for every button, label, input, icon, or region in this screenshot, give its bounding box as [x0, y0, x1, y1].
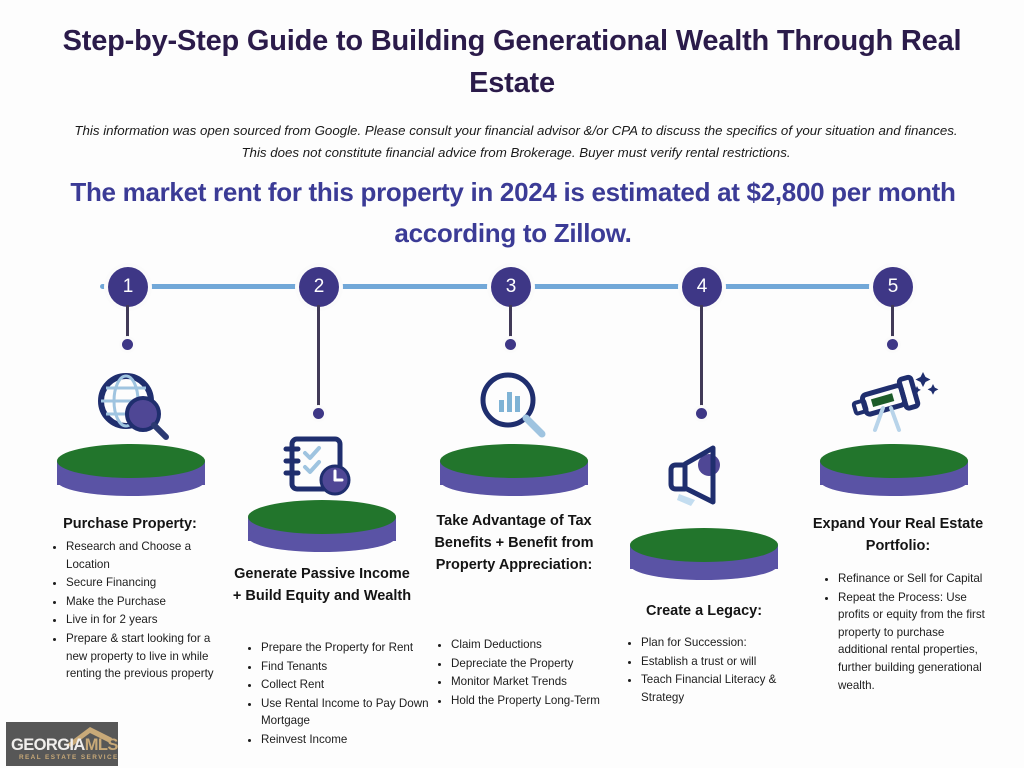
checklist-clock-icon	[278, 430, 374, 506]
list-item: Monitor Market Trends	[451, 673, 621, 691]
timeline-stem-dot-2	[313, 408, 324, 419]
disclaimer-text: This information was open sourced from G…	[66, 120, 966, 164]
georgia-mls-logo[interactable]: GEORGIAMLS REAL ESTATE SERVICES	[6, 722, 118, 766]
timeline-node-3[interactable]: 3	[491, 267, 531, 307]
step-list-4: Plan for Succession: Establish a trust o…	[625, 634, 809, 707]
timeline-node-4[interactable]: 4	[682, 267, 722, 307]
page-title: Step-by-Step Guide to Building Generatio…	[62, 20, 962, 104]
list-item: Depreciate the Property	[451, 655, 621, 673]
list-item: Prepare & start looking for a new proper…	[66, 630, 234, 683]
platform-2	[248, 500, 396, 552]
list-item: Claim Deductions	[451, 636, 621, 654]
timeline-stem-4	[700, 305, 703, 413]
list-item: Secure Financing	[66, 574, 234, 592]
list-item: Live in for 2 years	[66, 611, 234, 629]
platform-3	[440, 444, 588, 496]
step-heading-4: Create a Legacy:	[618, 601, 790, 623]
timeline-stem-2	[317, 305, 320, 413]
list-item: Hold the Property Long-Term	[451, 692, 621, 710]
timeline-stem-dot-4	[696, 408, 707, 419]
list-item: Plan for Succession:	[641, 634, 809, 652]
step-heading-1: Purchase Property:	[22, 514, 238, 536]
list-item: Reinvest Income	[261, 731, 429, 749]
globe-search-icon	[84, 368, 180, 444]
timeline-stem-dot-5	[887, 339, 898, 350]
list-item: Establish a trust or will	[641, 653, 809, 671]
logo-word-georgia: GEORGIA	[11, 736, 85, 754]
platform-5	[820, 444, 968, 496]
logo-word-mls: MLS	[85, 736, 118, 754]
logo-wordmark: GEORGIAMLS	[11, 736, 118, 755]
platform-4	[630, 528, 778, 580]
market-rent-headline: The market rent for this property in 202…	[58, 172, 968, 254]
infographic-page: Step-by-Step Guide to Building Generatio…	[0, 0, 1024, 768]
step-list-1: Research and Choose a Location Secure Fi…	[50, 538, 234, 684]
step-heading-3: Take Advantage of Tax Benefits + Benefit…	[428, 511, 600, 576]
timeline-node-5[interactable]: 5	[873, 267, 913, 307]
list-item: Research and Choose a Location	[66, 538, 234, 573]
megaphone-icon	[655, 440, 751, 516]
step-heading-5: Expand Your Real Estate Portfolio:	[808, 514, 988, 558]
step-list-5: Refinance or Sell for Capital Repeat the…	[822, 570, 992, 695]
step-list-3: Claim Deductions Depreciate the Property…	[435, 636, 621, 710]
list-item: Collect Rent	[261, 676, 429, 694]
list-item: Prepare the Property for Rent	[261, 639, 429, 657]
list-item: Refinance or Sell for Capital	[838, 570, 992, 588]
telescope-icon	[845, 362, 941, 438]
list-item: Repeat the Process: Use profits or equit…	[838, 589, 992, 695]
list-item: Find Tenants	[261, 658, 429, 676]
step-list-2: Prepare the Property for Rent Find Tenan…	[245, 639, 429, 750]
chart-magnifier-icon	[468, 368, 564, 444]
timeline-stem-dot-3	[505, 339, 516, 350]
logo-tagline: REAL ESTATE SERVICES	[19, 754, 118, 761]
timeline-node-1[interactable]: 1	[108, 267, 148, 307]
platform-1	[57, 444, 205, 496]
list-item: Make the Purchase	[66, 593, 234, 611]
list-item: Teach Financial Literacy & Strategy	[641, 671, 809, 706]
timeline-node-2[interactable]: 2	[299, 267, 339, 307]
step-heading-2: Generate Passive Income + Build Equity a…	[232, 564, 412, 608]
list-item: Use Rental Income to Pay Down Mortgage	[261, 695, 429, 730]
timeline-stem-dot-1	[122, 339, 133, 350]
